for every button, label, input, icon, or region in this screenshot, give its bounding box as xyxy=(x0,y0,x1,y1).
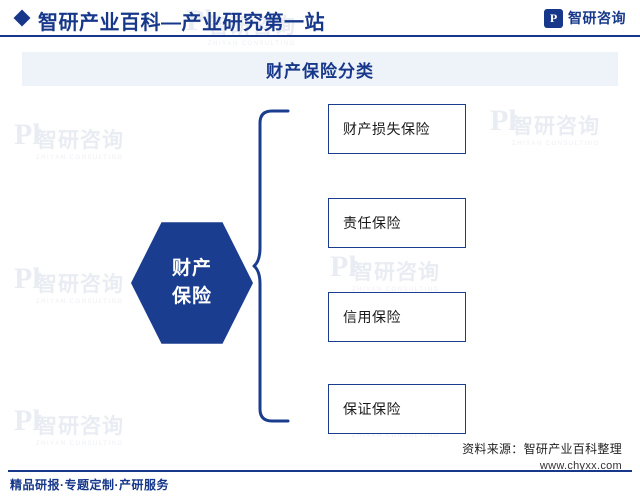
category-label: 信用保险 xyxy=(343,307,401,327)
root-label-line1: 财产 xyxy=(172,255,212,283)
category-label: 责任保险 xyxy=(343,213,401,233)
category-node-4: 保证保险 xyxy=(328,384,466,434)
category-label: 财产损失保险 xyxy=(343,119,430,139)
brand-mark-icon: P xyxy=(544,9,563,28)
page-title: 智研产业百科—产业研究第一站 xyxy=(38,6,325,35)
watermark-sub: ZHIYAN CONSULTING xyxy=(208,41,296,47)
category-node-1: 财产损失保险 xyxy=(328,104,466,154)
source-text: 资料来源：智研产业百科整理 xyxy=(462,440,622,457)
root-label-line2: 保险 xyxy=(172,283,212,311)
category-node-3: 信用保险 xyxy=(328,292,466,342)
watermark-sub: ZHIYAN CONSULTING xyxy=(36,441,124,447)
classification-diagram: 财产 保险 财产损失保险 责任保险 信用保险 保证保险 xyxy=(0,86,640,436)
brand-logo: P 智研咨询 xyxy=(544,8,626,28)
source-block: 资料来源：智研产业百科整理 www.chyxx.com xyxy=(462,440,622,472)
diamond-icon xyxy=(14,10,31,27)
footer-services: 精品研报·专题定制·产研服务 xyxy=(10,476,169,493)
curly-brace-icon xyxy=(252,108,292,424)
footer-divider xyxy=(8,470,632,472)
diagram-root-node: 财产 保险 xyxy=(131,221,253,345)
page-header: 智研产业百科—产业研究第一站 P 智研咨询 xyxy=(0,0,640,36)
category-node-2: 责任保险 xyxy=(328,198,466,248)
chart-title: 财产保险分类 xyxy=(266,57,374,82)
category-label: 保证保险 xyxy=(343,399,401,419)
header-divider xyxy=(0,35,640,37)
chart-title-band: 财产保险分类 xyxy=(22,52,618,86)
brand-name: 智研咨询 xyxy=(568,8,626,28)
